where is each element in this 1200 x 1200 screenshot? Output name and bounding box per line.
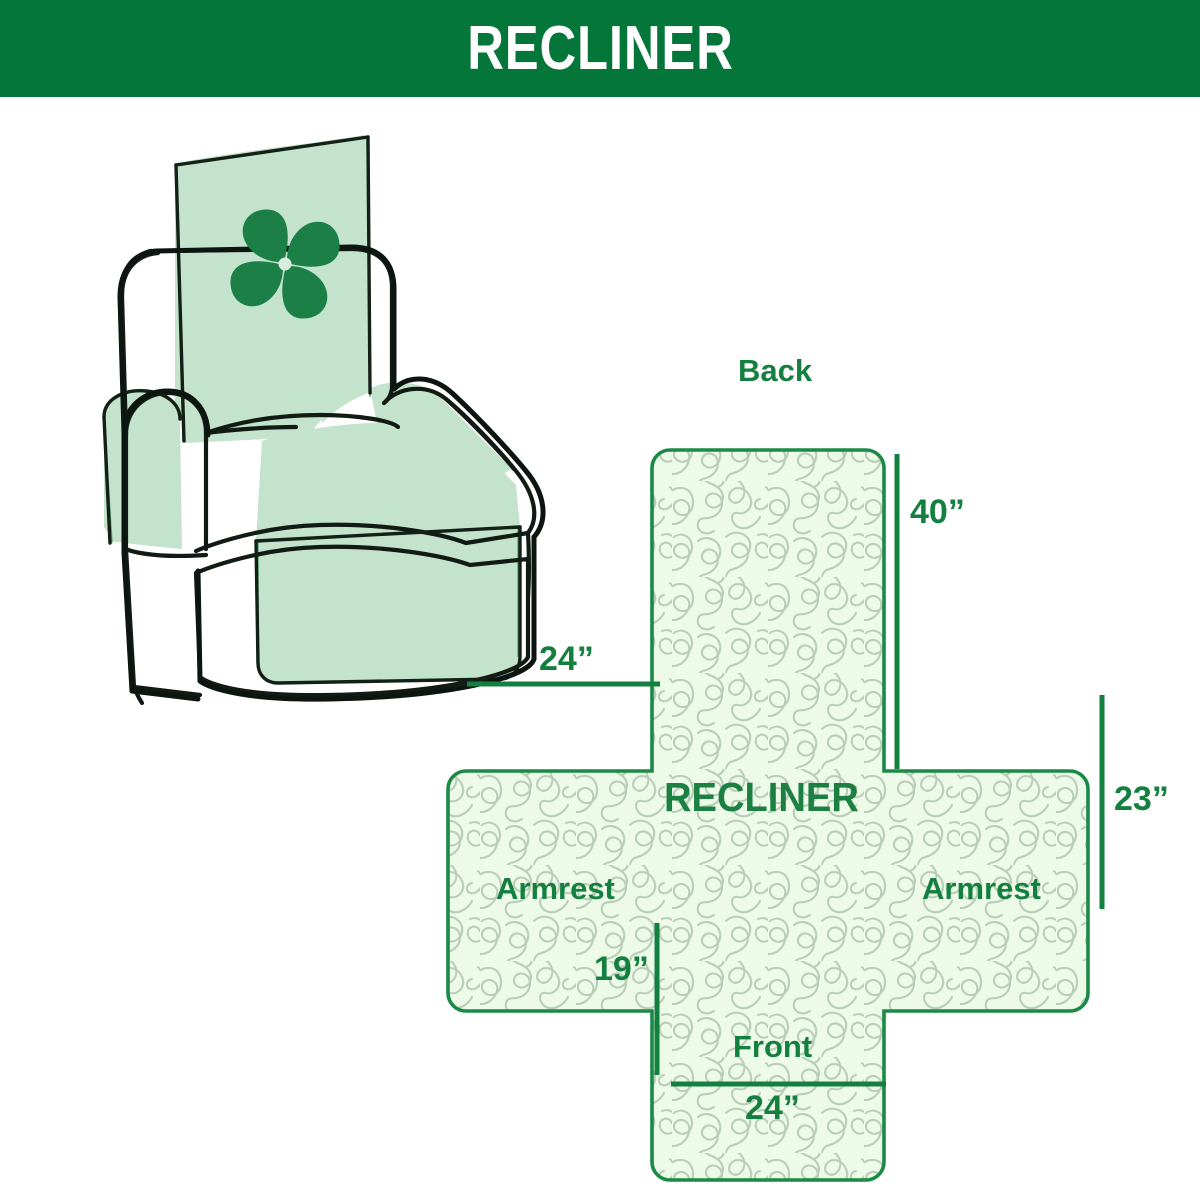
- recliner-chair-illustration: [104, 135, 543, 703]
- label-armrest-right: Armrest: [922, 873, 1041, 904]
- diagram-canvas: [0, 97, 1200, 1200]
- dim-label-center-height: 23”: [1114, 782, 1169, 816]
- label-armrest-left: Armrest: [496, 873, 615, 904]
- label-back: Back: [738, 355, 812, 386]
- dim-label-front-height: 19”: [594, 952, 649, 986]
- dim-label-front-width: 24”: [745, 1091, 800, 1125]
- page-title: RECLINER: [467, 18, 733, 80]
- dim-label-back-height: 40”: [910, 495, 965, 529]
- label-front: Front: [733, 1031, 812, 1062]
- header-banner: RECLINER: [0, 0, 1200, 97]
- dim-label-armrest-width: 24”: [539, 642, 594, 676]
- pinwheel-fan-logo: [230, 209, 339, 318]
- diagram-center-label: RECLINER: [664, 777, 859, 818]
- diagram-stage: Back Armrest Armrest Front RECLINER 40” …: [0, 97, 1200, 1200]
